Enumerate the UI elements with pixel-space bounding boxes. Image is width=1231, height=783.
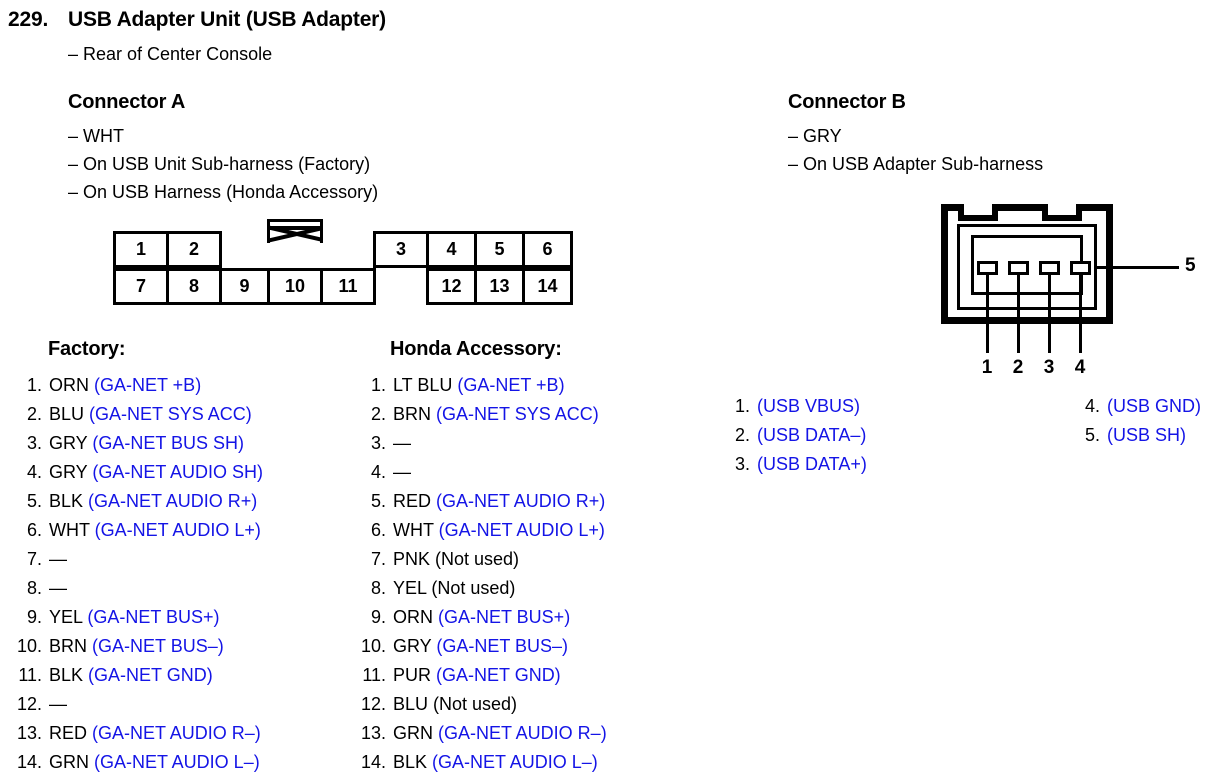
factory-pin-wire-color: GRN <box>49 752 89 772</box>
honda-pin-signal-name: (GA-NET AUDIO R–) <box>433 723 607 743</box>
factory-pin-wire-color: RED <box>49 723 87 743</box>
connector-a-top-empty-slot <box>219 231 270 268</box>
honda-pin-index: 5. <box>352 491 386 512</box>
factory-pin-signal-name: (GA-NET BUS SH) <box>87 433 244 453</box>
connector-a-pin-cell-9: 9 <box>219 268 270 305</box>
shell-left-edge <box>941 204 948 324</box>
pin-leader-line-2 <box>1017 274 1020 353</box>
connector-b-pin-signal-name: (USB VBUS) <box>757 396 860 416</box>
honda-pin-row: 11.PUR (GA-NET GND) <box>352 665 682 694</box>
connector-b-color-note: – GRY <box>788 126 842 147</box>
honda-accessory-pin-list: 1.LT BLU (GA-NET +B)2.BRN (GA-NET SYS AC… <box>352 375 682 781</box>
factory-pin-wire-color: BRN <box>49 636 87 656</box>
connector-b-pin-index: 5. <box>1078 425 1100 446</box>
honda-pin-row: 3.— <box>352 433 682 462</box>
honda-pin-row: 10.GRY (GA-NET BUS–) <box>352 636 682 665</box>
factory-pin-list: 1.ORN (GA-NET +B)2.BLU (GA-NET SYS ACC)3… <box>8 375 338 781</box>
honda-pin-index: 10. <box>352 636 386 657</box>
honda-pin-wire-color: GRY <box>393 636 431 656</box>
honda-pin-signal-name: (GA-NET +B) <box>452 375 564 395</box>
connector-b-pin-row: 3.(USB DATA+) <box>728 454 867 483</box>
factory-pin-index: 7. <box>8 549 42 570</box>
connector-b-pin-index: 1. <box>728 396 750 417</box>
factory-pin-index: 14. <box>8 752 42 773</box>
pin-pad-4 <box>1070 261 1091 275</box>
connector-b-pin-signal-name: (USB DATA+) <box>757 454 867 474</box>
connector-a-pin-cell-1: 1 <box>113 231 169 268</box>
factory-pin-row: 12.— <box>8 694 338 723</box>
honda-pin-index: 3. <box>352 433 386 454</box>
honda-pin-row: 12.BLU (Not used) <box>352 694 682 723</box>
honda-pin-note: (Not used) <box>426 578 515 598</box>
honda-pin-row: 1.LT BLU (GA-NET +B) <box>352 375 682 404</box>
honda-pin-index: 9. <box>352 607 386 628</box>
factory-pin-index: 9. <box>8 607 42 628</box>
honda-pin-note: (Not used) <box>428 694 517 714</box>
factory-list-title: Factory: <box>48 338 125 361</box>
factory-pin-no-connection: — <box>49 549 67 569</box>
honda-pin-row: 2.BRN (GA-NET SYS ACC) <box>352 404 682 433</box>
connector-a-pin-cell-14: 14 <box>522 268 573 305</box>
connector-a-top-empty-slot <box>320 231 376 268</box>
honda-pin-signal-name: (GA-NET BUS–) <box>431 636 568 656</box>
pin-pad-1 <box>977 261 998 275</box>
honda-pin-index: 7. <box>352 549 386 570</box>
honda-pin-row: 7.PNK (Not used) <box>352 549 682 578</box>
connector-a-pin-cell-5: 5 <box>474 231 525 268</box>
connector-b-pin-signal-name: (USB DATA–) <box>757 425 866 445</box>
pin-leader-line-3 <box>1048 274 1051 353</box>
honda-pin-no-connection: — <box>393 433 411 453</box>
honda-pin-signal-name: (GA-NET AUDIO L+) <box>434 520 605 540</box>
factory-pin-index: 1. <box>8 375 42 396</box>
connector-b-pin-label-4: 4 <box>1068 357 1092 379</box>
connector-b-pin-row: 5.(USB SH) <box>1078 425 1201 454</box>
honda-pin-index: 14. <box>352 752 386 773</box>
factory-pin-signal-name: (GA-NET BUS–) <box>87 636 224 656</box>
factory-pin-no-connection: — <box>49 694 67 714</box>
honda-pin-row: 14.BLK (GA-NET AUDIO L–) <box>352 752 682 781</box>
factory-pin-signal-name: (GA-NET SYS ACC) <box>84 404 252 424</box>
factory-pin-no-connection: — <box>49 578 67 598</box>
honda-pin-index: 1. <box>352 375 386 396</box>
factory-pin-index: 8. <box>8 578 42 599</box>
honda-pin-signal-name: (GA-NET AUDIO R+) <box>431 491 605 511</box>
honda-accessory-list-title: Honda Accessory: <box>390 338 562 361</box>
honda-pin-note: (Not used) <box>430 549 519 569</box>
connector-b-harness-note: – On USB Adapter Sub-harness <box>788 154 1043 175</box>
factory-pin-signal-name: (GA-NET AUDIO L–) <box>89 752 260 772</box>
honda-pin-wire-color: PNK <box>393 549 430 569</box>
factory-pin-signal-name: (GA-NET AUDIO SH) <box>87 462 263 482</box>
factory-pin-wire-color: YEL <box>49 607 82 627</box>
connector-b-heading: Connector B <box>788 91 906 114</box>
connector-b-pin-index: 2. <box>728 425 750 446</box>
pin-leader-line-4 <box>1079 274 1082 353</box>
item-number: 229. <box>8 8 48 32</box>
honda-pin-wire-color: BLU <box>393 694 428 714</box>
connector-b-pin-label-5: 5 <box>1185 255 1196 277</box>
honda-pin-row: 9.ORN (GA-NET BUS+) <box>352 607 682 636</box>
honda-pin-wire-color: LT BLU <box>393 375 452 395</box>
factory-pin-row: 1.ORN (GA-NET +B) <box>8 375 338 404</box>
page-title: USB Adapter Unit (USB Adapter) <box>68 8 386 32</box>
honda-pin-signal-name: (GA-NET SYS ACC) <box>431 404 599 424</box>
shell-bottom-edge <box>941 317 1113 324</box>
connector-a-harness-note-accessory: – On USB Harness (Honda Accessory) <box>68 182 378 203</box>
factory-pin-wire-color: GRY <box>49 462 87 482</box>
connector-a-pin-cell-3: 3 <box>373 231 429 268</box>
factory-pin-index: 12. <box>8 694 42 715</box>
honda-pin-wire-color: RED <box>393 491 431 511</box>
honda-pin-index: 12. <box>352 694 386 715</box>
connector-a-pin-cell-13: 13 <box>474 268 525 305</box>
connector-b-pin-row: 1.(USB VBUS) <box>728 396 867 425</box>
honda-pin-signal-name: (GA-NET BUS+) <box>433 607 570 627</box>
factory-pin-wire-color: BLU <box>49 404 84 424</box>
honda-pin-wire-color: YEL <box>393 578 426 598</box>
connector-a-pin-cell-12: 12 <box>426 268 477 305</box>
honda-pin-row: 13.GRN (GA-NET AUDIO R–) <box>352 723 682 752</box>
honda-pin-row: 5.RED (GA-NET AUDIO R+) <box>352 491 682 520</box>
connector-b-pin-label-1: 1 <box>975 357 999 379</box>
factory-pin-row: 7.— <box>8 549 338 578</box>
locking-tab-icon <box>267 219 323 243</box>
honda-pin-signal-name: (GA-NET GND) <box>431 665 561 685</box>
honda-pin-wire-color: BLK <box>393 752 427 772</box>
factory-pin-signal-name: (GA-NET AUDIO L+) <box>90 520 261 540</box>
honda-pin-wire-color: ORN <box>393 607 433 627</box>
connector-a-color-note: – WHT <box>68 126 124 147</box>
factory-pin-row: 11.BLK (GA-NET GND) <box>8 665 338 694</box>
factory-pin-row: 8.— <box>8 578 338 607</box>
honda-pin-row: 6.WHT (GA-NET AUDIO L+) <box>352 520 682 549</box>
connector-a-bottom-empty-slot <box>373 268 429 305</box>
factory-pin-row: 13.RED (GA-NET AUDIO R–) <box>8 723 338 752</box>
connector-a-heading: Connector A <box>68 91 185 114</box>
connector-b-pin-row: 4.(USB GND) <box>1078 396 1201 425</box>
connector-b-pin-label-2: 2 <box>1006 357 1030 379</box>
connector-b-pin-index: 4. <box>1078 396 1100 417</box>
factory-pin-index: 4. <box>8 462 42 483</box>
honda-pin-index: 11. <box>352 665 386 686</box>
factory-pin-signal-name: (GA-NET BUS+) <box>82 607 219 627</box>
factory-pin-index: 6. <box>8 520 42 541</box>
factory-pin-row: 4.GRY (GA-NET AUDIO SH) <box>8 462 338 491</box>
connector-b-pin-list-right: 4.(USB GND)5.(USB SH) <box>1078 396 1201 454</box>
connector-b-pin-row: 2.(USB DATA–) <box>728 425 867 454</box>
connector-a-pin-diagram: 123456 7891011121314 <box>113 231 561 311</box>
shell-top-segment-middle <box>997 204 1047 211</box>
pin-leader-line-5 <box>1096 266 1179 269</box>
notch-floor <box>1042 215 1082 221</box>
factory-pin-index: 13. <box>8 723 42 744</box>
pin-leader-line-1 <box>986 274 989 353</box>
notch-floor <box>958 215 998 221</box>
factory-pin-row: 10.BRN (GA-NET BUS–) <box>8 636 338 665</box>
honda-pin-index: 13. <box>352 723 386 744</box>
factory-pin-row: 2.BLU (GA-NET SYS ACC) <box>8 404 338 433</box>
honda-pin-row: 8.YEL (Not used) <box>352 578 682 607</box>
factory-pin-wire-color: WHT <box>49 520 90 540</box>
factory-pin-signal-name: (GA-NET +B) <box>89 375 201 395</box>
honda-pin-signal-name: (GA-NET AUDIO L–) <box>427 752 598 772</box>
factory-pin-row: 6.WHT (GA-NET AUDIO L+) <box>8 520 338 549</box>
honda-pin-row: 4.— <box>352 462 682 491</box>
connector-a-pin-cell-7: 7 <box>113 268 169 305</box>
connector-a-pin-cell-6: 6 <box>522 231 573 268</box>
connector-a-pin-cell-11: 11 <box>320 268 376 305</box>
factory-pin-wire-color: GRY <box>49 433 87 453</box>
honda-pin-index: 6. <box>352 520 386 541</box>
factory-pin-signal-name: (GA-NET GND) <box>83 665 213 685</box>
honda-pin-wire-color: GRN <box>393 723 433 743</box>
factory-pin-row: 9.YEL (GA-NET BUS+) <box>8 607 338 636</box>
factory-pin-index: 10. <box>8 636 42 657</box>
honda-pin-index: 4. <box>352 462 386 483</box>
factory-pin-index: 3. <box>8 433 42 454</box>
honda-pin-wire-color: BRN <box>393 404 431 424</box>
honda-pin-wire-color: WHT <box>393 520 434 540</box>
factory-pin-index: 2. <box>8 404 42 425</box>
pin-pad-3 <box>1039 261 1060 275</box>
honda-pin-index: 8. <box>352 578 386 599</box>
connector-a-pin-cell-8: 8 <box>166 268 222 305</box>
location-note: – Rear of Center Console <box>68 44 272 65</box>
factory-pin-signal-name: (GA-NET AUDIO R+) <box>83 491 257 511</box>
connector-a-pin-cell-4: 4 <box>426 231 477 268</box>
factory-pin-row: 14.GRN (GA-NET AUDIO L–) <box>8 752 338 781</box>
shell-right-edge <box>1106 204 1113 324</box>
honda-pin-index: 2. <box>352 404 386 425</box>
pin-pad-2 <box>1008 261 1029 275</box>
connector-a-pin-cell-10: 10 <box>267 268 323 305</box>
honda-pin-no-connection: — <box>393 462 411 482</box>
connector-a-harness-note-factory: – On USB Unit Sub-harness (Factory) <box>68 154 370 175</box>
connector-b-pin-diagram: 5 1 2 3 4 <box>935 200 1125 380</box>
factory-pin-row: 5.BLK (GA-NET AUDIO R+) <box>8 491 338 520</box>
factory-pin-index: 11. <box>8 665 42 686</box>
connector-b-pin-signal-name: (USB GND) <box>1107 396 1201 416</box>
connector-b-pin-signal-name: (USB SH) <box>1107 425 1186 445</box>
connector-a-pin-cell-2: 2 <box>166 231 222 268</box>
connector-b-pin-list-left: 1.(USB VBUS)2.(USB DATA–)3.(USB DATA+) <box>728 396 867 483</box>
factory-pin-signal-name: (GA-NET AUDIO R–) <box>87 723 261 743</box>
factory-pin-wire-color: BLK <box>49 491 83 511</box>
connector-b-pin-index: 3. <box>728 454 750 475</box>
connector-b-pin-label-3: 3 <box>1037 357 1061 379</box>
factory-pin-index: 5. <box>8 491 42 512</box>
honda-pin-wire-color: PUR <box>393 665 431 685</box>
shell-top-segment-right <box>1081 204 1113 211</box>
factory-pin-row: 3.GRY (GA-NET BUS SH) <box>8 433 338 462</box>
factory-pin-wire-color: ORN <box>49 375 89 395</box>
factory-pin-wire-color: BLK <box>49 665 83 685</box>
